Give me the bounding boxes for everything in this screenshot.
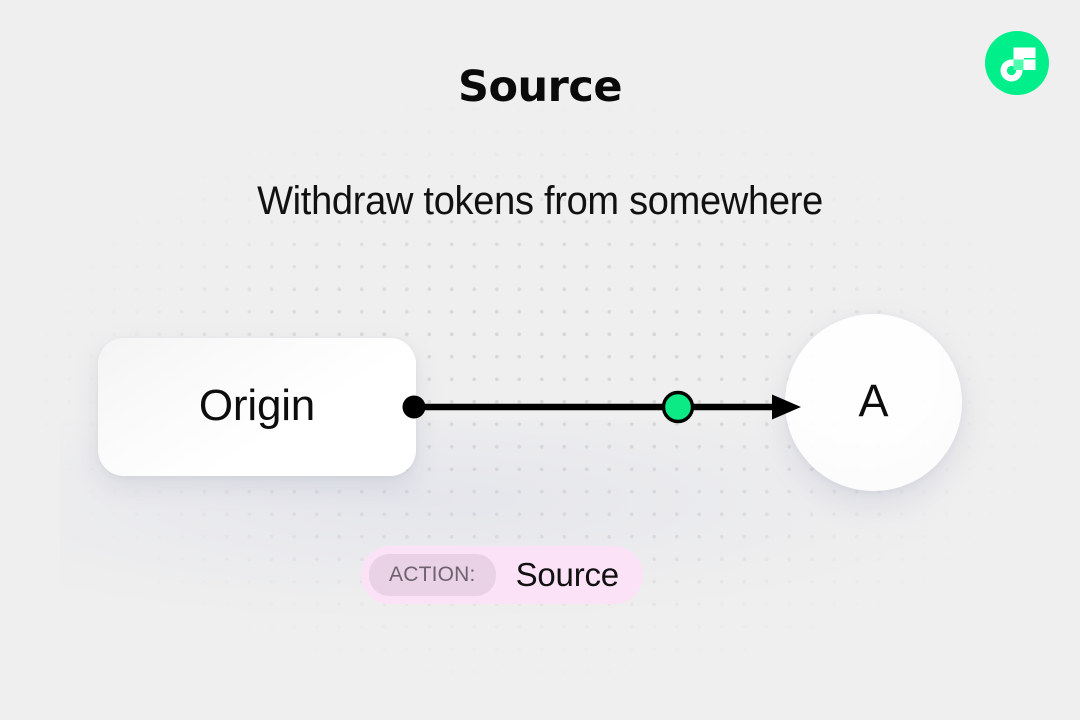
node-origin[interactable]: Origin	[98, 338, 416, 476]
diagram-canvas: Source Withdraw tokens from somewhere Or…	[0, 0, 1080, 720]
page-subtitle: Withdraw tokens from somewhere	[27, 179, 1053, 224]
node-origin-label: Origin	[199, 381, 315, 431]
node-a[interactable]: A	[785, 314, 962, 491]
action-badge[interactable]: ACTION: Source	[361, 546, 643, 604]
page-title: Source	[0, 62, 1080, 112]
action-badge-value: Source	[516, 556, 619, 594]
node-a-label: A	[858, 375, 888, 427]
action-badge-key: ACTION:	[369, 554, 496, 596]
